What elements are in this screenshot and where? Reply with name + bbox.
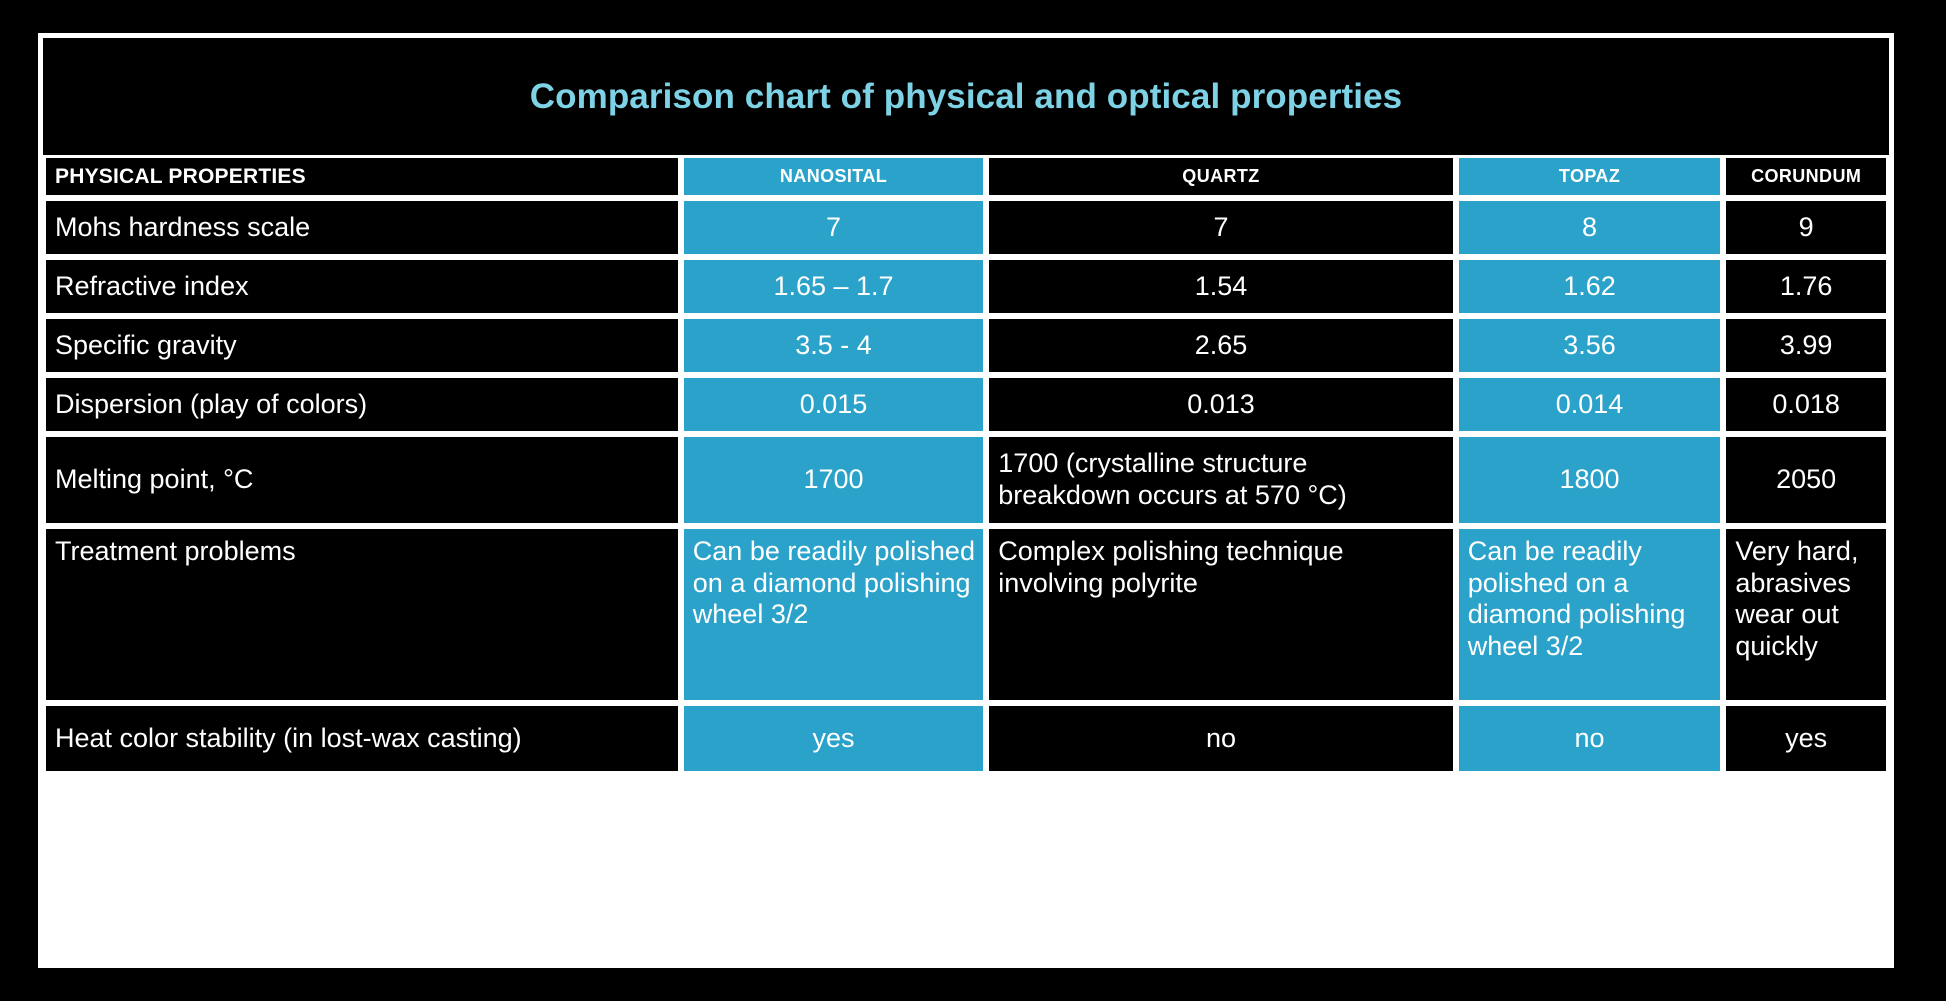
cell-value: 1700 <box>684 464 984 496</box>
cell-value: Complex polishing technique involving po… <box>998 536 1446 599</box>
cell-value: 0.014 <box>1459 389 1721 421</box>
cell-value: 3.99 <box>1726 330 1886 362</box>
table-row: Refractive index 1.65 – 1.7 1.54 1.62 1.… <box>43 257 1889 316</box>
column-header-nanosital-label: NANOSITAL <box>684 166 984 187</box>
table-row: Dispersion (play of colors) 0.015 0.013 … <box>43 375 1889 434</box>
cell-quartz: 1.54 <box>986 257 1455 316</box>
column-header-corundum: CORUNDUM <box>1723 155 1889 198</box>
cell-quartz: 0.013 <box>986 375 1455 434</box>
cell-nanosital: 0.015 <box>681 375 987 434</box>
row-label-cell: Treatment problems <box>43 526 681 703</box>
cell-corundum: 2050 <box>1723 434 1889 526</box>
table-row: Mohs hardness scale 7 7 8 9 <box>43 198 1889 257</box>
slide-frame: Comparison chart of physical and optical… <box>38 33 1894 968</box>
cell-quartz: Complex polishing technique involving po… <box>986 526 1455 703</box>
cell-value: no <box>1459 723 1721 755</box>
cell-value: 1.65 – 1.7 <box>684 271 984 303</box>
cell-corundum: 1.76 <box>1723 257 1889 316</box>
cell-value: 1800 <box>1459 464 1721 496</box>
cell-quartz: 2.65 <box>986 316 1455 375</box>
cell-nanosital: Can be readily polished on a diamond pol… <box>681 526 987 703</box>
cell-value: 9 <box>1726 212 1886 244</box>
cell-corundum: 3.99 <box>1723 316 1889 375</box>
cell-nanosital: 3.5 - 4 <box>681 316 987 375</box>
cell-value: 7 <box>989 212 1452 244</box>
cell-value: 3.5 - 4 <box>684 330 984 362</box>
cell-value: yes <box>684 723 984 755</box>
cell-value: 7 <box>684 212 984 244</box>
row-label: Mohs hardness scale <box>55 212 672 244</box>
row-label-cell: Specific gravity <box>43 316 681 375</box>
cell-value: 3.56 <box>1459 330 1721 362</box>
cell-quartz: 1700 (crystalline structure breakdown oc… <box>986 434 1455 526</box>
cell-nanosital: 7 <box>681 198 987 257</box>
cell-quartz: 7 <box>986 198 1455 257</box>
row-label: Dispersion (play of colors) <box>55 389 672 421</box>
column-header-quartz: QUARTZ <box>986 155 1455 198</box>
row-label: Treatment problems <box>55 536 672 568</box>
cell-value: 1.62 <box>1459 271 1721 303</box>
cell-corundum: yes <box>1723 703 1889 774</box>
slide-canvas: Comparison chart of physical and optical… <box>0 0 1946 1001</box>
cell-nanosital: 1700 <box>681 434 987 526</box>
row-label-cell: Dispersion (play of colors) <box>43 375 681 434</box>
cell-value: yes <box>1726 723 1886 755</box>
cell-corundum: Very hard, abrasives wear out quickly <box>1723 526 1889 703</box>
cell-topaz: 1.62 <box>1456 257 1724 316</box>
row-label: Melting point, °C <box>55 464 672 496</box>
comparison-table: PHYSICAL PROPERTIES NANOSITAL QUARTZ TOP… <box>43 155 1889 963</box>
cell-corundum: 9 <box>1723 198 1889 257</box>
cell-value: 1.76 <box>1726 271 1886 303</box>
page-title: Comparison chart of physical and optical… <box>530 77 1403 117</box>
cell-value: Can be readily polished on a diamond pol… <box>693 536 978 631</box>
table-row: Treatment problems Can be readily polish… <box>43 526 1889 703</box>
cell-topaz: Can be readily polished on a diamond pol… <box>1456 526 1724 703</box>
column-header-topaz-label: TOPAZ <box>1459 166 1721 187</box>
row-label: Specific gravity <box>55 330 672 362</box>
title-band: Comparison chart of physical and optical… <box>43 38 1889 155</box>
table-header-row: PHYSICAL PROPERTIES NANOSITAL QUARTZ TOP… <box>43 155 1889 198</box>
cell-value: 2.65 <box>989 330 1452 362</box>
row-label-cell: Melting point, °C <box>43 434 681 526</box>
row-label: Heat color stability (in lost-wax castin… <box>55 723 672 755</box>
cell-value: Very hard, abrasives wear out quickly <box>1735 536 1880 662</box>
cell-value: 1.54 <box>989 271 1452 303</box>
row-label-cell: Refractive index <box>43 257 681 316</box>
cell-value: 1700 (crystalline structure breakdown oc… <box>998 448 1446 511</box>
slide-inner: Comparison chart of physical and optical… <box>43 38 1889 963</box>
cell-value: 0.018 <box>1726 389 1886 421</box>
table-row: Specific gravity 3.5 - 4 2.65 3.56 3.99 <box>43 316 1889 375</box>
cell-value: 0.015 <box>684 389 984 421</box>
column-header-topaz: TOPAZ <box>1456 155 1724 198</box>
cell-nanosital: 1.65 – 1.7 <box>681 257 987 316</box>
column-header-property-label: PHYSICAL PROPERTIES <box>55 165 672 189</box>
column-header-nanosital: NANOSITAL <box>681 155 987 198</box>
cell-topaz: 0.014 <box>1456 375 1724 434</box>
table-row: Heat color stability (in lost-wax castin… <box>43 703 1889 774</box>
row-label-cell: Mohs hardness scale <box>43 198 681 257</box>
column-header-quartz-label: QUARTZ <box>989 166 1452 187</box>
cell-value: Can be readily polished on a diamond pol… <box>1468 536 1715 662</box>
cell-quartz: no <box>986 703 1455 774</box>
row-label: Refractive index <box>55 271 672 303</box>
cell-topaz: 1800 <box>1456 434 1724 526</box>
cell-topaz: 3.56 <box>1456 316 1724 375</box>
cell-value: 8 <box>1459 212 1721 244</box>
cell-topaz: 8 <box>1456 198 1724 257</box>
cell-value: 2050 <box>1726 464 1886 496</box>
row-label-cell: Heat color stability (in lost-wax castin… <box>43 703 681 774</box>
column-header-corundum-label: CORUNDUM <box>1726 166 1886 187</box>
cell-nanosital: yes <box>681 703 987 774</box>
cell-corundum: 0.018 <box>1723 375 1889 434</box>
cell-value: no <box>989 723 1452 755</box>
column-header-property: PHYSICAL PROPERTIES <box>43 155 681 198</box>
cell-topaz: no <box>1456 703 1724 774</box>
cell-value: 0.013 <box>989 389 1452 421</box>
table-row: Melting point, °C 1700 1700 (crystalline… <box>43 434 1889 526</box>
